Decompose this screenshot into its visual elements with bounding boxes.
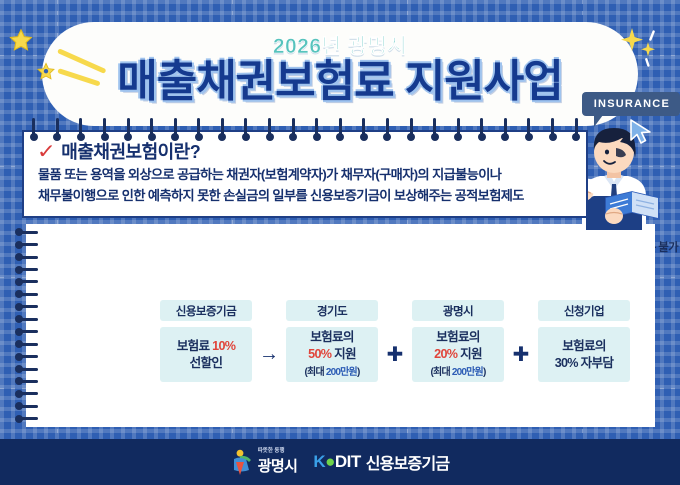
support-flow-diagram: 신용보증기금 보험료 10% 선할인 → 경기도 보험료의 50% 지원 (최대…	[160, 300, 630, 382]
flow-gm-l2-plain: 지원	[457, 347, 482, 361]
flow-box-kodit-line2: 선할인	[190, 355, 223, 372]
spiral-ring	[18, 355, 38, 358]
spiral-ring	[410, 118, 413, 138]
flow-connector-arrow-icon: →	[252, 327, 286, 382]
intro-line-1: 물품 또는 용역을 외상으로 공급하는 채권자(보험계약자)가 채무자(구매자)…	[38, 164, 576, 185]
spiral-ring	[18, 343, 38, 346]
flow-box-kodit: 보험료 10% 선할인	[160, 327, 252, 382]
flow-gyeonggi-pct: 50%	[308, 347, 331, 361]
flow-box-gyeonggi: 보험료의 50% 지원 (최대 200만원)	[286, 327, 378, 382]
spiral-ring	[127, 118, 130, 138]
spiral-ring	[315, 118, 318, 138]
flow-gm-l2: 20% 지원	[434, 346, 482, 363]
spiral-ring	[18, 305, 38, 308]
spiral-ring	[79, 118, 82, 138]
flow-column-gwangmyeong: 광명시 보험료의 20% 지원 (최대 200만원)	[412, 300, 504, 382]
intro-heading: 매출채권보험이란?	[61, 138, 200, 164]
spiral-ring	[18, 243, 38, 246]
spiral-ring	[103, 118, 106, 138]
spiral-ring	[18, 231, 38, 234]
flow-connector-plus-icon: ✚	[378, 327, 412, 382]
flow-kodit-l1-red: 10%	[212, 339, 235, 353]
spiral-ring	[18, 293, 38, 296]
flow-head-gyeonggi: 경기도	[286, 300, 378, 321]
star-icon	[36, 62, 56, 82]
flow-gm-cap-b: )	[483, 367, 486, 378]
flow-box-gwangmyeong: 보험료의 20% 지원 (최대 200만원)	[412, 327, 504, 382]
spiral-ring	[504, 118, 507, 138]
spiral-ring	[174, 118, 177, 138]
sparkle-icon	[618, 26, 658, 75]
flow-gyeonggi-l2-plain: 지원	[331, 347, 356, 361]
footer-bar: 따뜻한 동행 광명시 K●DIT 신용보증기금	[0, 439, 680, 485]
spiral-ring	[197, 118, 200, 138]
spiral-ring	[18, 417, 38, 420]
spiral-ring	[433, 118, 436, 138]
flow-applicant-l2: 30% 자부담	[555, 355, 614, 372]
spiral-ring	[480, 118, 483, 138]
poster-root: 2026년 광명시 매출채권보험료 지원사업 INSURANCE	[0, 0, 680, 485]
status-badge: INSURANCE	[582, 92, 680, 116]
spiral-ring	[18, 392, 38, 395]
check-icon: ✓	[37, 139, 56, 164]
gwangmyeong-logo: 따뜻한 동행 광명시	[231, 448, 298, 476]
flow-gyeonggi-cap: (최대 200만원)	[305, 364, 360, 381]
flow-head-applicant: 신청기업	[538, 300, 630, 321]
spiral-ring	[221, 118, 224, 138]
notebook-spiral-left	[18, 226, 38, 425]
spiral-ring	[386, 118, 389, 138]
flow-gm-pct: 20%	[434, 347, 457, 361]
spiral-ring	[575, 118, 578, 138]
flow-gyeonggi-cap-amount: 200만원	[326, 367, 357, 378]
spiral-ring	[18, 380, 38, 383]
notebook-spiral-top	[22, 118, 588, 136]
intro-line-2: 채무불이행으로 인한 예측하지 못한 손실금의 일부를 신용보증기금이 보상해주…	[38, 185, 576, 206]
flow-column-applicant: 신청기업 보험료의 30% 자부담	[538, 300, 630, 382]
spiral-ring	[32, 118, 35, 138]
flow-applicant-l1: 보험료의	[562, 338, 606, 355]
kodit-wordmark: K●DIT	[313, 452, 360, 472]
city-name: 광명시	[258, 458, 298, 475]
cursor-arrow-icon	[628, 118, 654, 151]
flow-connector-plus-icon-2: ✚	[504, 327, 538, 382]
flow-gyeonggi-l1: 보험료의	[310, 329, 354, 346]
spiral-ring	[18, 405, 38, 408]
flow-gyeonggi-cap-b: )	[357, 367, 360, 378]
spiral-ring	[268, 118, 271, 138]
intro-body: 물품 또는 용역을 외상으로 공급하는 채권자(보험계약자)가 채무자(구매자)…	[38, 164, 576, 206]
kodit-logo: K●DIT 신용보증기금	[313, 450, 449, 474]
flow-column-gyeonggi: 경기도 보험료의 50% 지원 (최대 200만원)	[286, 300, 378, 382]
flow-gyeonggi-l2: 50% 지원	[308, 346, 356, 363]
flow-gm-cap-a: (최대	[431, 367, 452, 378]
spiral-ring	[18, 318, 38, 321]
gwangmyeong-symbol-icon	[231, 449, 253, 475]
spiral-ring	[56, 118, 59, 138]
spiral-ring	[150, 118, 153, 138]
star-icon	[8, 28, 34, 54]
spiral-ring	[18, 368, 38, 371]
flow-column-kodit: 신용보증기금 보험료 10% 선할인	[160, 300, 252, 382]
flow-box-applicant: 보험료의 30% 자부담	[538, 327, 630, 382]
spiral-ring	[18, 268, 38, 271]
spiral-ring	[551, 118, 554, 138]
flow-gm-cap-amount: 200만원	[452, 367, 483, 378]
flow-gm-l1: 보험료의	[436, 329, 480, 346]
kodit-name: 신용보증기금	[366, 450, 450, 474]
intro-heading-group: ✓ 매출채권보험이란?	[38, 138, 200, 164]
spiral-ring	[457, 118, 460, 138]
spiral-ring	[292, 118, 295, 138]
flow-head-gwangmyeong: 광명시	[412, 300, 504, 321]
spiral-ring	[18, 256, 38, 259]
spiral-ring	[244, 118, 247, 138]
flow-kodit-l1-plain: 보험료	[177, 339, 212, 353]
spiral-ring	[362, 118, 365, 138]
spiral-ring	[527, 118, 530, 138]
flow-gm-cap: (최대 200만원)	[431, 364, 486, 381]
header-card: 2026년 광명시 매출채권보험료 지원사업	[42, 22, 638, 126]
flow-box-kodit-line1: 보험료 10%	[177, 338, 236, 355]
spiral-ring	[339, 118, 342, 138]
spiral-ring	[18, 330, 38, 333]
gwangmyeong-logo-text: 따뜻한 동행 광명시	[258, 448, 298, 476]
intro-card: ✓ 매출채권보험이란? 물품 또는 용역을 외상으로 공급하는 채권자(보험계약…	[22, 130, 588, 218]
city-tagline: 따뜻한 동행	[258, 448, 298, 455]
flow-gyeonggi-cap-a: (최대	[305, 367, 326, 378]
flow-head-kodit: 신용보증기금	[160, 300, 252, 321]
page-title: 매출채권보험료 지원사업	[42, 52, 638, 112]
spiral-ring	[18, 280, 38, 283]
